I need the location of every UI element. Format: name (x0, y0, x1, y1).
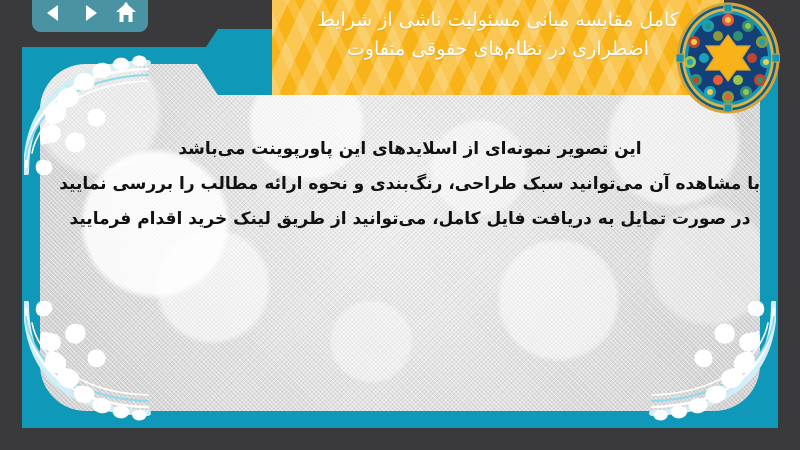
slide-body-text: این تصویر نمونه‌ای از اسلایدهای این پاور… (60, 132, 760, 237)
previous-triangle-icon[interactable] (42, 1, 66, 25)
body-line-3: در صورت تمایل به دریافت فایل کامل، می‌تو… (60, 202, 760, 237)
home-icon[interactable] (114, 1, 138, 25)
slide-content-plate (40, 64, 760, 411)
body-line-2: با مشاهده آن می‌توانید سبک طراحی، رنگ‌بن… (60, 167, 760, 202)
page-title: کامل مقایسه مبانی مسئولیت ناشی از شرایط … (283, 6, 713, 64)
slide-title-banner: کامل مقایسه مبانی مسئولیت ناشی از شرایط … (272, 0, 724, 95)
slide-navigation-bar[interactable] (32, 0, 148, 32)
presentation-slide: کامل مقایسه مبانی مسئولیت ناشی از شرایط … (0, 0, 800, 450)
body-line-1: این تصویر نمونه‌ای از اسلایدهای این پاور… (60, 132, 760, 167)
islamic-medallion-icon (676, 2, 780, 114)
next-triangle-icon[interactable] (78, 1, 102, 25)
